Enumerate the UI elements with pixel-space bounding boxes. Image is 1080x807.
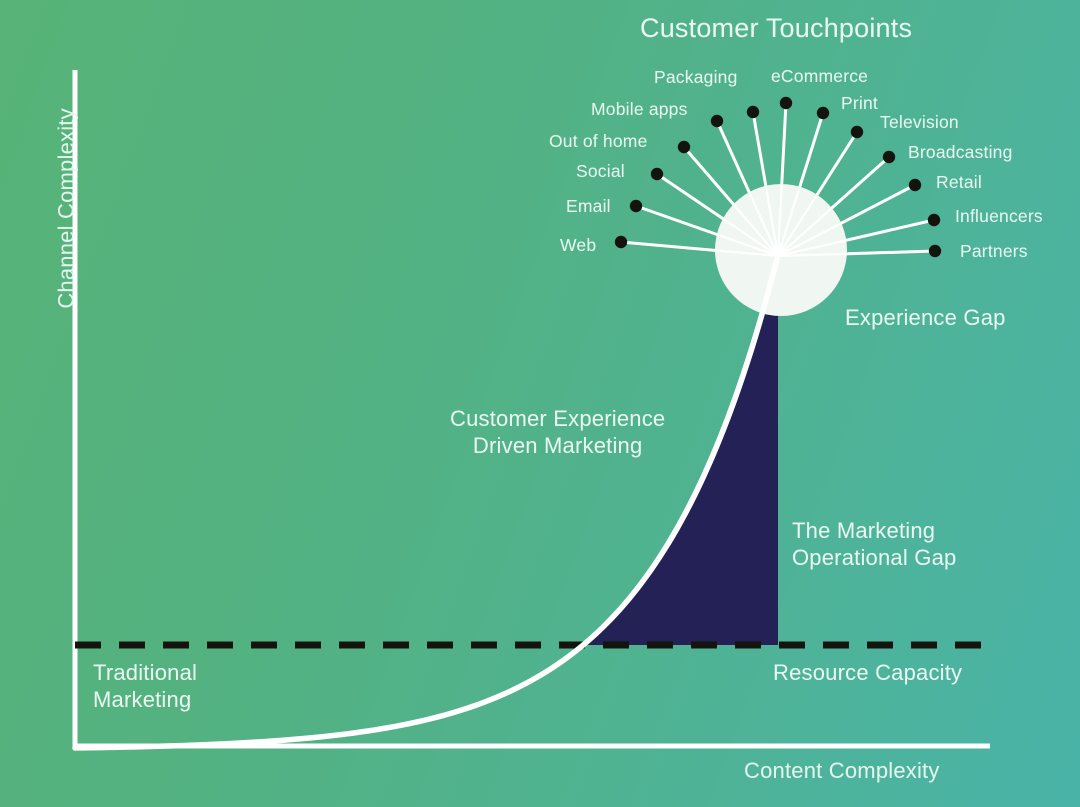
page-title: Customer Touchpoints	[640, 12, 912, 45]
touchpoint-dot[interactable]	[851, 126, 863, 138]
touchpoint-dot[interactable]	[909, 179, 921, 191]
diagram-canvas: Customer Touchpoints Channel Complexity …	[0, 0, 1080, 807]
touchpoint-label-television: Television	[880, 112, 959, 133]
touchpoint-dot[interactable]	[651, 168, 663, 180]
operational-gap-line1: The Marketing	[792, 518, 956, 545]
touchpoint-dot[interactable]	[929, 245, 941, 257]
experience-gap-label: Experience Gap	[845, 305, 1006, 332]
touchpoint-label-mobile-apps: Mobile apps	[591, 99, 688, 120]
curve-annotation-line1: Customer Experience	[450, 406, 665, 433]
operational-gap-label: The Marketing Operational Gap	[792, 518, 956, 572]
touchpoint-dot[interactable]	[928, 214, 940, 226]
touchpoint-label-social: Social	[576, 161, 625, 182]
x-axis-label: Content Complexity	[744, 758, 940, 785]
touchpoint-label-broadcasting: Broadcasting	[908, 142, 1013, 163]
touchpoint-label-retail: Retail	[936, 172, 982, 193]
touchpoint-label-partners: Partners	[960, 241, 1028, 262]
curve-annotation: Customer Experience Driven Marketing	[450, 406, 665, 460]
touchpoint-label-email: Email	[566, 196, 611, 217]
touchpoint-dot[interactable]	[678, 141, 690, 153]
operational-gap-line2: Operational Gap	[792, 545, 956, 572]
touchpoint-label-print: Print	[841, 93, 878, 114]
touchpoint-dot[interactable]	[883, 151, 895, 163]
y-axis-label: Channel Complexity	[54, 78, 81, 338]
traditional-marketing-line1: Traditional	[93, 660, 197, 687]
touchpoint-label-influencers: Influencers	[955, 206, 1043, 227]
traditional-marketing-label: Traditional Marketing	[93, 660, 197, 714]
touchpoint-dot[interactable]	[615, 236, 627, 248]
touchpoint-label-web: Web	[560, 235, 596, 256]
traditional-marketing-line2: Marketing	[93, 687, 197, 714]
touchpoint-label-out-of-home: Out of home	[549, 131, 648, 152]
touchpoint-label-packaging: Packaging	[654, 67, 738, 88]
touchpoint-dot[interactable]	[747, 106, 759, 118]
touchpoint-dot[interactable]	[817, 107, 829, 119]
touchpoint-dot[interactable]	[711, 115, 723, 127]
touchpoint-dot[interactable]	[630, 200, 642, 212]
resource-capacity-label: Resource Capacity	[773, 660, 962, 687]
touchpoint-dot[interactable]	[780, 97, 792, 109]
curve-annotation-line2: Driven Marketing	[450, 433, 665, 460]
touchpoint-label-ecommerce: eCommerce	[771, 66, 868, 87]
